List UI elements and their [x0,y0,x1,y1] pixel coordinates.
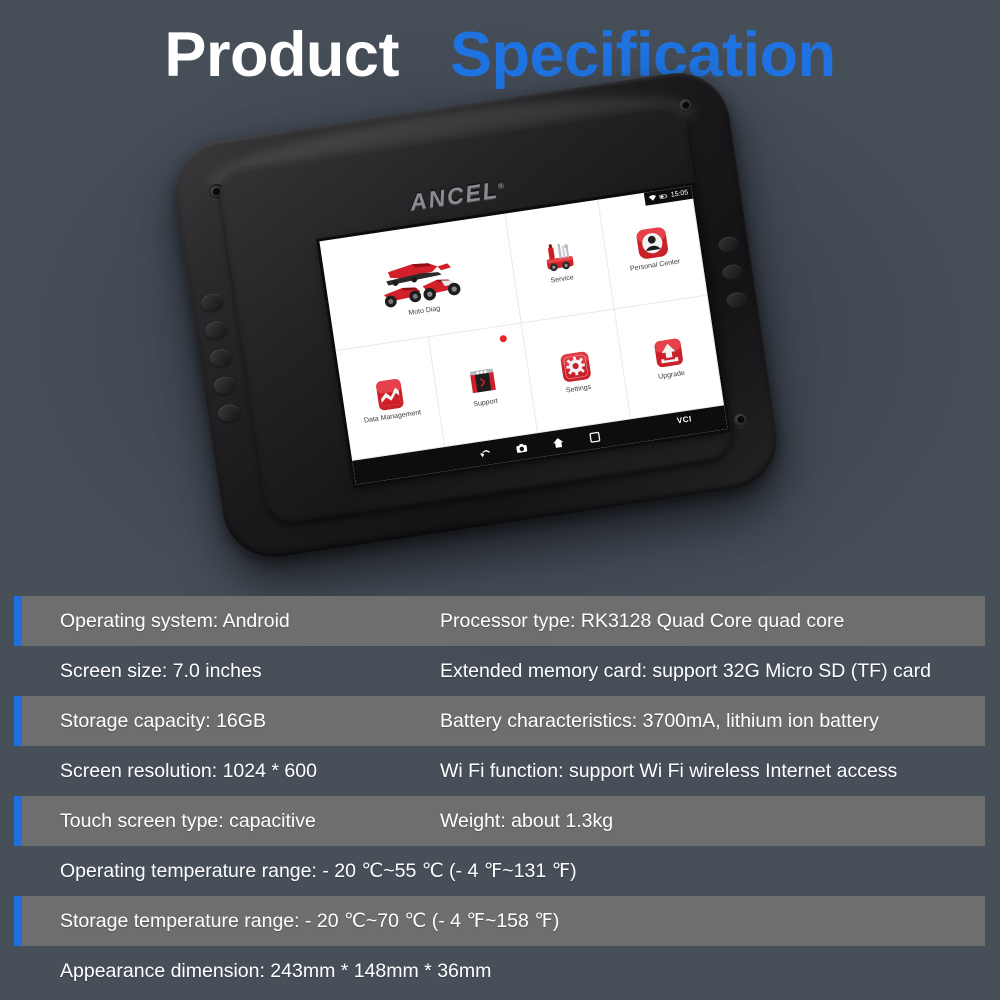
upload-arrow-icon [649,333,688,372]
page-title: Product Specification [0,22,1000,88]
app-tile-label: Upgrade [658,369,686,380]
recents-icon[interactable] [589,431,602,444]
spec-left-cell: Storage capacity: 16GB [60,710,266,733]
table-row: Operating system: Android Processor type… [0,596,1000,646]
table-row: Touch screen type: capacitive Weight: ab… [0,796,1000,846]
spec-right-cell: Processor type: RK3128 Quad Core quad co… [440,610,844,633]
table-row: Screen resolution: 1024 * 600 Wi Fi func… [0,746,1000,796]
spec-left-cell: Operating temperature range: - 20 ℃~55 ℃… [60,859,577,883]
back-arrow-icon[interactable] [479,447,492,460]
spec-right-cell: Wi Fi function: support Wi Fi wireless I… [440,760,897,783]
motorcycle-atv-icon [372,243,467,311]
table-row: Operating temperature range: - 20 ℃~55 ℃… [0,846,1000,896]
product-image: ANCEL® [0,95,1000,585]
table-row: Screen size: 7.0 inches Extended memory … [0,646,1000,696]
spec-right-cell: Extended memory card: support 32G Micro … [440,660,931,683]
table-row: Storage temperature range: - 20 ℃~70 ℃ (… [0,896,1000,946]
spec-left-cell: Operating system: Android [60,610,290,633]
data-chart-icon [370,375,409,414]
app-tile-label: Service [550,274,574,284]
tablet-bezel: ANCEL® [216,102,736,528]
page-title-primary: Product [164,20,399,90]
home-icon[interactable] [552,436,565,449]
spec-right-cell: Weight: about 1.3kg [440,810,613,833]
tablet-screen[interactable]: Moto Diag [319,186,727,485]
registered-mark: ® [497,181,506,191]
spec-right-cell: Battery characteristics: 3700mA, lithium… [440,710,879,733]
app-tile-settings[interactable]: Settings [522,309,631,433]
support-icon [463,361,502,400]
app-tile-upgrade[interactable]: Upgrade [615,296,724,420]
camera-icon[interactable] [515,441,528,454]
app-tile-label: Data Management [364,409,422,424]
status-bar-time: 15:05 [670,189,688,199]
brand-logo-text: ANCEL [408,176,500,215]
app-tile-service[interactable]: Service [505,200,614,324]
service-tools-icon [539,237,578,276]
notification-badge [499,335,507,343]
app-tile-label: Settings [565,383,591,394]
app-tile-label: Support [473,397,498,408]
spec-left-cell: Screen resolution: 1024 * 600 [60,760,317,783]
battery-icon [660,192,669,200]
spec-left-cell: Touch screen type: capacitive [60,810,316,833]
table-row: Appearance dimension: 243mm * 148mm * 36… [0,946,1000,996]
diagnostic-tablet: ANCEL® [168,66,784,564]
app-tile-support[interactable]: Support [429,323,538,447]
app-tile-data-management[interactable]: Data Management [336,337,445,461]
wifi-icon [649,194,658,202]
vci-indicator-label: VCI [676,414,692,425]
gear-icon [556,347,595,386]
table-row: Storage capacity: 16GB Battery character… [0,696,1000,746]
title-space [416,20,433,90]
spec-left-cell: Storage temperature range: - 20 ℃~70 ℃ (… [60,909,559,933]
spec-left-cell: Screen size: 7.0 inches [60,660,262,683]
specification-table: Operating system: Android Processor type… [0,596,1000,996]
person-icon [632,223,671,262]
spec-left-cell: Appearance dimension: 243mm * 148mm * 36… [60,960,491,983]
